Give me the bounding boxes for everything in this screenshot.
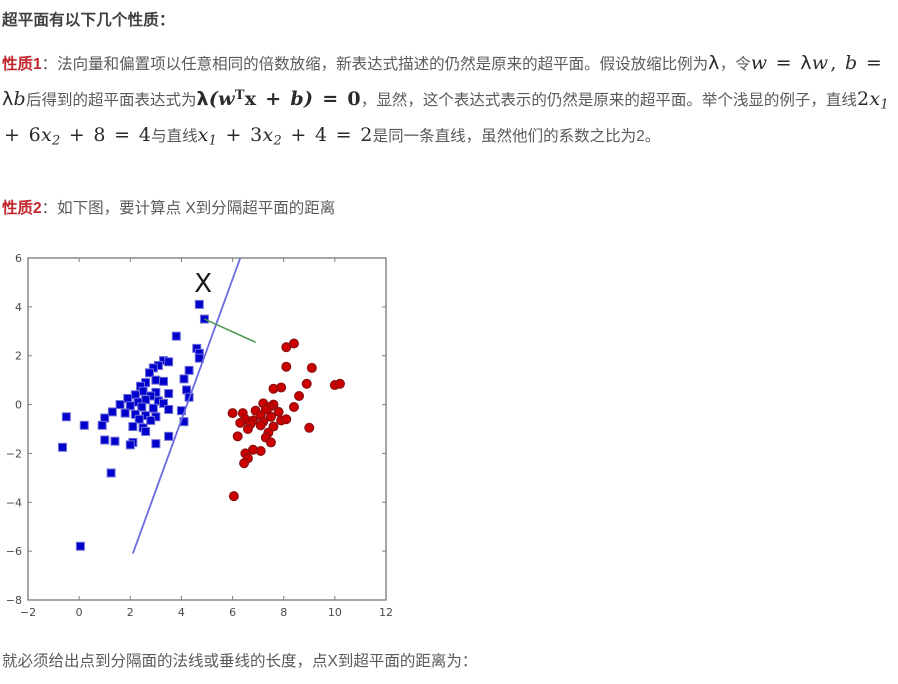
- data-point-blue: [76, 542, 84, 550]
- data-point-blue: [62, 413, 70, 421]
- y-tick-label: 0: [15, 399, 22, 412]
- data-point-blue: [180, 375, 188, 383]
- data-point-blue: [149, 404, 157, 412]
- property-1-label: 性质1: [2, 56, 42, 73]
- property-2-label: 性质2: [2, 200, 42, 217]
- data-point-blue: [200, 315, 208, 323]
- property-1-colon: ：: [42, 56, 58, 73]
- scatter-plot-svg: −2024681012−8−6−4−20246 X CSDN @DreamWen…: [0, 248, 430, 630]
- math-line-equation-2: x1 + 3x2 + 4 = 2: [198, 124, 373, 146]
- page-title: 超平面有以下几个性质：: [2, 8, 175, 30]
- data-point-red: [244, 425, 253, 434]
- y-tick-label: 2: [15, 350, 22, 363]
- data-point-red: [307, 364, 316, 373]
- data-point-red: [256, 447, 265, 456]
- data-point-blue: [108, 408, 116, 416]
- data-point-blue: [101, 414, 109, 422]
- data-point-blue: [142, 427, 150, 435]
- x-tick-label: 0: [76, 606, 83, 619]
- article-page: 超平面有以下几个性质： 性质1：法向量和偏置项以任意相同的倍数放缩，新表达式描述…: [0, 0, 898, 684]
- data-point-blue: [139, 387, 147, 395]
- data-point-blue: [116, 401, 124, 409]
- point-x-label: X: [194, 269, 212, 299]
- property-1-text-2: ，令: [720, 56, 751, 73]
- property-2-text: 如下图，要计算点 X到分隔超平面的距离: [57, 200, 335, 217]
- data-point-red: [282, 415, 291, 424]
- data-point-blue: [98, 421, 106, 429]
- data-point-blue: [152, 440, 160, 448]
- y-tick-label: 4: [15, 301, 22, 314]
- x-tick-label: 8: [280, 606, 287, 619]
- data-point-blue: [183, 386, 191, 394]
- data-point-blue: [165, 390, 173, 398]
- property-1-text-6: 是同一条直线，虽然他们的系数之比为2。: [373, 128, 661, 145]
- data-point-blue: [195, 300, 203, 308]
- data-point-blue: [145, 369, 153, 377]
- data-point-blue: [135, 415, 143, 423]
- x-tick-label: 6: [229, 606, 236, 619]
- y-tick-label: −2: [6, 447, 22, 460]
- data-point-blue: [142, 396, 150, 404]
- data-point-red: [282, 362, 291, 371]
- property-1-paragraph: 性质1：法向量和偏置项以任意相同的倍数放缩，新表达式描述的仍然是原来的超平面。假…: [2, 48, 894, 157]
- data-point-blue: [124, 394, 132, 402]
- x-tick-label: −2: [20, 606, 36, 619]
- property-1-text-4: ，显然，这个表达式表示的仍然是原来的超平面。举个浅显的例子，直线: [361, 92, 857, 109]
- data-point-blue: [165, 358, 173, 366]
- data-point-blue: [121, 409, 129, 417]
- data-point-blue: [152, 376, 160, 384]
- data-point-blue: [165, 432, 173, 440]
- data-point-blue: [172, 332, 180, 340]
- property-1-text-1: 法向量和偏置项以任意相同的倍数放缩，新表达式描述的仍然是原来的超平面。假设放缩比…: [57, 56, 708, 73]
- data-point-red: [240, 459, 249, 468]
- y-tick-label: −4: [6, 496, 22, 509]
- property-1-text-3: 后得到的超平面表达式为: [26, 92, 197, 109]
- scatter-plot-figure: −2024681012−8−6−4−20246 X CSDN @DreamWen…: [0, 248, 430, 630]
- data-point-red: [302, 379, 311, 388]
- property-1-text-5: 与直线: [151, 128, 198, 145]
- data-point-red: [229, 492, 238, 501]
- data-point-red: [233, 432, 242, 441]
- data-point-blue: [147, 416, 155, 424]
- data-point-red: [290, 403, 299, 412]
- data-point-red: [256, 421, 265, 430]
- property-2-colon: ：: [42, 200, 58, 217]
- data-point-red: [290, 339, 299, 348]
- data-point-blue: [165, 405, 173, 413]
- data-point-blue: [129, 423, 137, 431]
- data-point-blue: [185, 366, 193, 374]
- data-point-blue: [160, 377, 168, 385]
- y-tick-label: −6: [6, 545, 22, 558]
- data-point-blue: [107, 469, 115, 477]
- x-tick-label: 10: [328, 606, 342, 619]
- data-point-red: [267, 438, 276, 447]
- data-point-blue: [59, 443, 67, 451]
- data-point-red: [336, 379, 345, 388]
- data-point-red: [228, 409, 237, 418]
- x-tick-label: 2: [127, 606, 134, 619]
- footer-paragraph: 就必须给出点到分隔面的法线或垂线的长度，点X到超平面的距离为：: [2, 648, 477, 676]
- data-point-red: [269, 384, 278, 393]
- plot-background: [0, 248, 430, 630]
- data-point-red: [236, 418, 245, 427]
- math-hyperplane-scaled: λ(wTx + b) = 0: [197, 88, 361, 110]
- data-point-blue: [126, 402, 134, 410]
- x-tick-label: 12: [379, 606, 393, 619]
- data-point-blue: [138, 403, 146, 411]
- y-tick-label: 6: [15, 252, 22, 265]
- data-point-red: [305, 423, 314, 432]
- x-tick-label: 4: [178, 606, 185, 619]
- data-point-blue: [101, 436, 109, 444]
- data-point-blue: [131, 391, 139, 399]
- y-tick-label: −8: [6, 594, 22, 607]
- data-point-blue: [111, 437, 119, 445]
- math-lambda: λ: [708, 52, 720, 74]
- data-point-red: [295, 392, 304, 401]
- property-2-paragraph: 性质2：如下图，要计算点 X到分隔超平面的距离: [2, 193, 622, 224]
- data-point-blue: [80, 421, 88, 429]
- data-point-blue: [126, 441, 134, 449]
